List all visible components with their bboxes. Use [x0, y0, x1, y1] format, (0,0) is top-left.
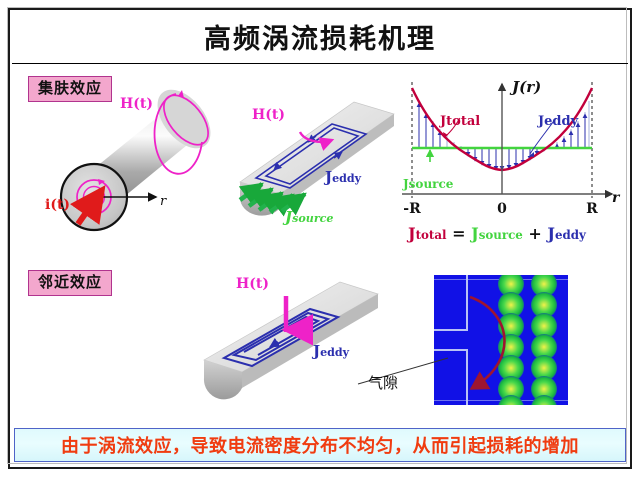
- current-density-chart: -R 0 R: [388, 70, 628, 230]
- slab-eddy-label-sub: eddy: [332, 172, 361, 185]
- eq-equals: =: [452, 224, 465, 243]
- slab-field-label: H(t): [252, 107, 285, 123]
- air-gap-label: 气隙: [368, 372, 398, 393]
- chart-annotation-j-eddy: Jeddy: [538, 114, 578, 129]
- eq-plus: +: [528, 224, 541, 243]
- proximity-eddy-label: Jeddy: [313, 342, 349, 360]
- chart-annotation-j-source: Jsource: [403, 177, 453, 191]
- eq-j-source-sub: source: [479, 228, 523, 242]
- skin-field-label: H(t): [120, 96, 153, 112]
- chart-y-axis-label: J(r): [512, 78, 541, 96]
- slab-source-label-sub: source: [292, 212, 333, 225]
- slab-eddy-label: Jeddy: [325, 168, 361, 186]
- eq-j-source-main: J: [471, 224, 479, 243]
- eq-j-eddy-sub: eddy: [555, 228, 586, 242]
- proximity-eddy-label-sub: eddy: [320, 346, 349, 359]
- chart-xtick-r: R: [586, 201, 598, 217]
- current-density-equation: Jtotal = Jsource + Jeddy: [408, 224, 586, 243]
- proximity-field-label: H(t): [236, 276, 269, 292]
- chart-x-axis-label: r: [612, 190, 619, 206]
- conclusion-banner: 由于涡流效应，导致电流密度分布不均匀，从而引起损耗的增加: [14, 428, 626, 462]
- conclusion-text: 由于涡流效应，导致电流密度分布不均匀，从而引起损耗的增加: [61, 432, 579, 458]
- eq-j-total-sub: total: [416, 228, 447, 242]
- slide-title-bar: 高频涡流损耗机理: [10, 10, 630, 62]
- chart-xtick-neg-r: -R: [403, 201, 421, 217]
- slab-source-label: Jsource: [285, 208, 333, 226]
- skin-radius-axis-label: r: [160, 194, 166, 209]
- eq-j-total-main: J: [408, 224, 416, 243]
- proximity-effect-diagram: [182, 270, 402, 415]
- chart-annotation-j-total: Jtotal: [440, 114, 480, 129]
- slide-root: 高频涡流损耗机理 集肤效应 邻近效应: [0, 0, 640, 481]
- page-title: 高频涡流损耗机理: [204, 17, 436, 56]
- skin-current-label: i(t): [45, 197, 70, 213]
- chart-xtick-zero: 0: [497, 201, 507, 217]
- title-divider: [12, 63, 628, 64]
- eq-j-eddy-main: J: [547, 224, 555, 243]
- section-label-proximity-effect: 邻近效应: [28, 270, 112, 296]
